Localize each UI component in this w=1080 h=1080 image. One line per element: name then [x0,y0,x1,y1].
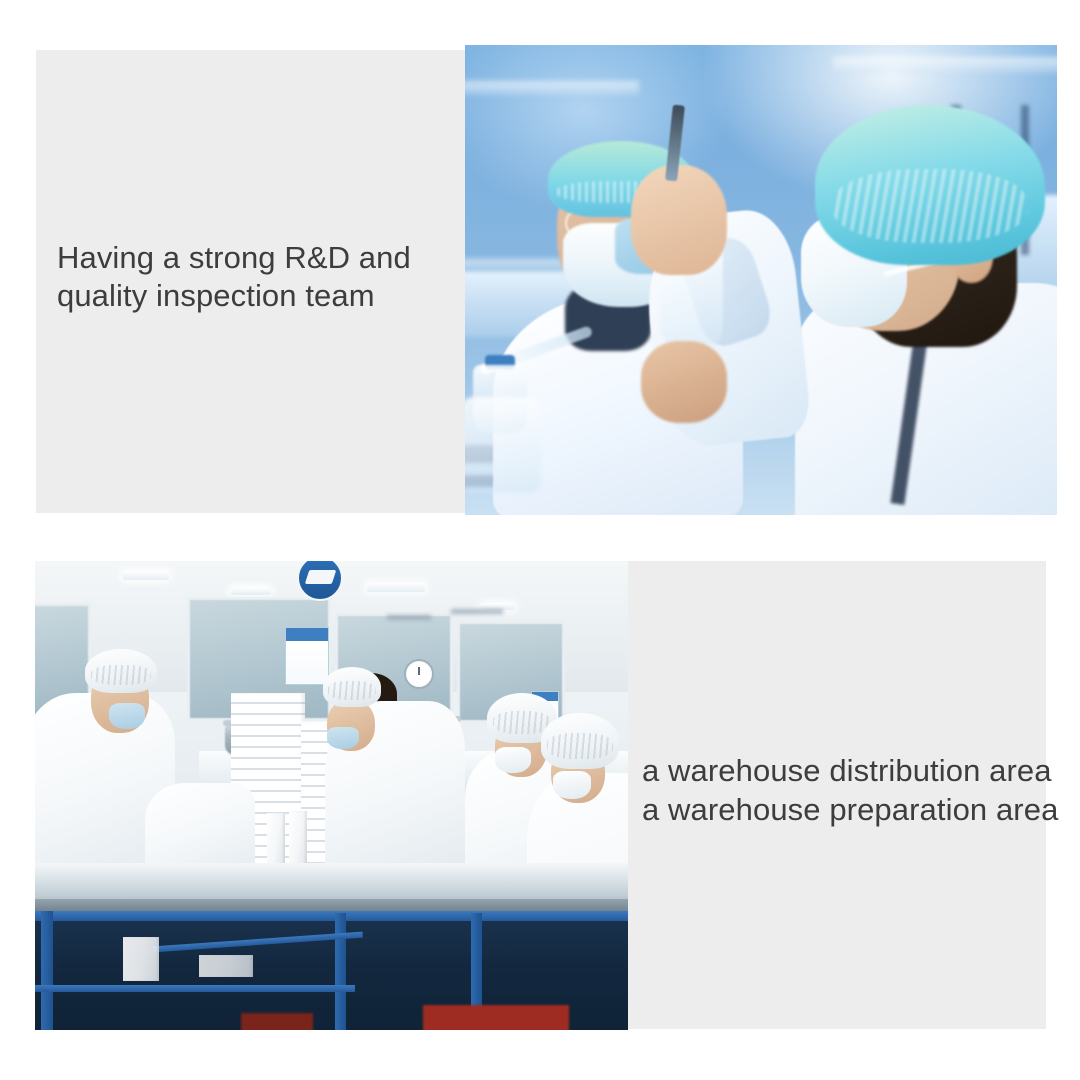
lab-hand-upper [631,165,727,275]
worker-4-mask [495,747,531,773]
table-leg-1 [41,911,53,1030]
warehouse-photo [35,561,628,1030]
under-table-paper [123,937,159,981]
table-leg-2 [335,913,346,1030]
ceiling-light-1 [123,571,169,580]
lab-inspection-photo [465,45,1057,515]
top-caption-text: Having a strong R&D and quality inspecti… [57,239,457,316]
worker-3-mask [327,727,359,749]
hanging-rail-1 [387,615,431,620]
wall-clock [404,659,434,689]
lab-shelf-right [833,57,1057,73]
carton-6 [267,813,285,867]
bottom-section: a warehouse distribution area a warehous… [0,558,1080,1080]
lab-hand-lower [641,341,727,423]
table-rail-lower [35,985,355,992]
bottom-caption-text: a warehouse distribution area a warehous… [642,751,1062,830]
lab-shelf-top [465,81,639,95]
ceiling-light-2 [231,587,271,595]
worker-5-mask [553,771,591,799]
lab-glassware [465,397,541,493]
under-table-paper-2 [199,955,253,977]
table-rail-top [35,911,628,921]
worker-1-mask [109,703,145,729]
wall-notice-left [285,627,329,685]
floor-marking-red [423,1005,569,1030]
ceiling-light-3 [367,583,425,592]
carton-7 [289,811,307,867]
worker-5-hairnet [541,713,619,769]
worker-3-hairnet [323,667,381,707]
hanging-rail-2 [451,609,503,614]
floor-marking-red-2 [241,1013,313,1030]
top-section: Having a strong R&D and quality inspecti… [0,0,1080,558]
worker-1-hairnet [85,649,157,693]
lab-worker-right-hairnet [815,105,1045,265]
